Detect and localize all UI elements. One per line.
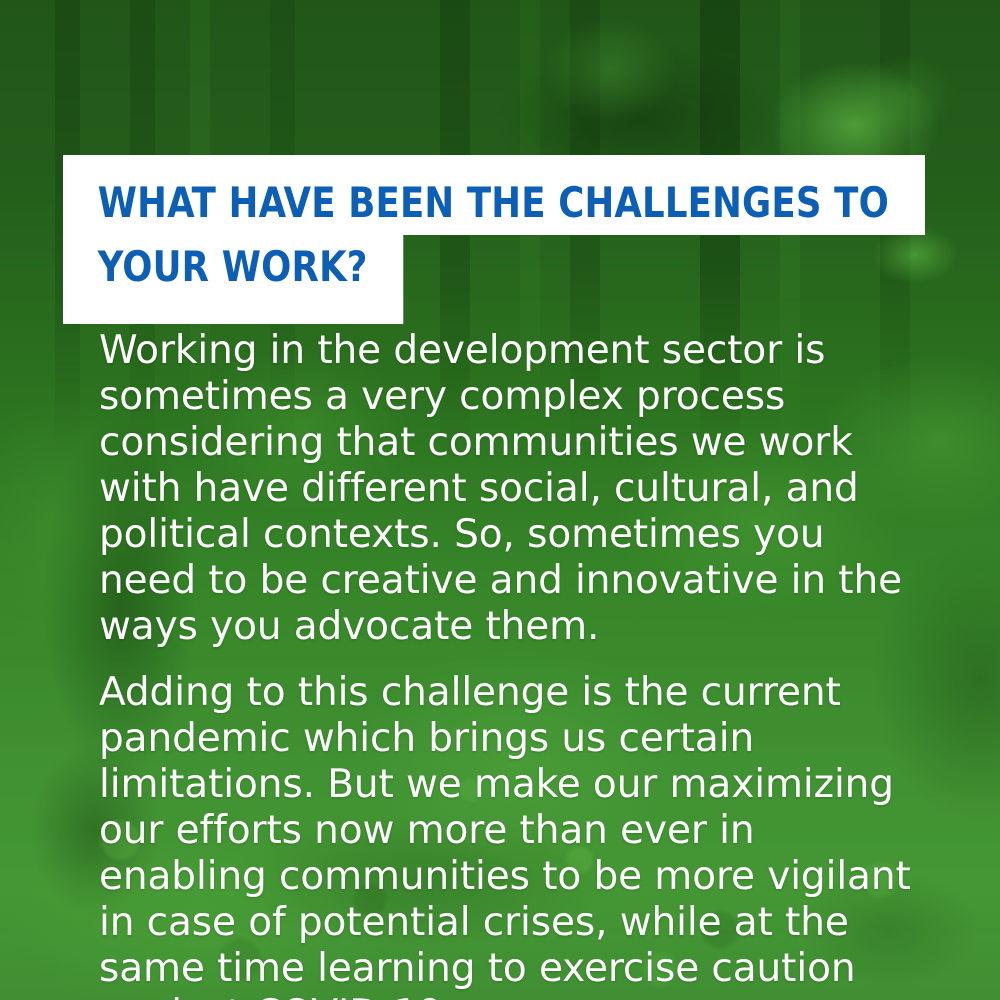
headline-line-2: YOUR WORK? xyxy=(63,235,403,324)
body-copy: Working in the development sector is som… xyxy=(99,328,929,1000)
body-paragraph-1: Working in the development sector is som… xyxy=(99,328,929,650)
headline-line-1: WHAT HAVE BEEN THE CHALLENGES TO xyxy=(63,155,925,235)
headline: WHAT HAVE BEEN THE CHALLENGES TO YOUR WO… xyxy=(63,155,943,324)
quote-card: WHAT HAVE BEEN THE CHALLENGES TO YOUR WO… xyxy=(0,0,1000,1000)
body-paragraph-2: Adding to this challenge is the current … xyxy=(99,670,929,1000)
